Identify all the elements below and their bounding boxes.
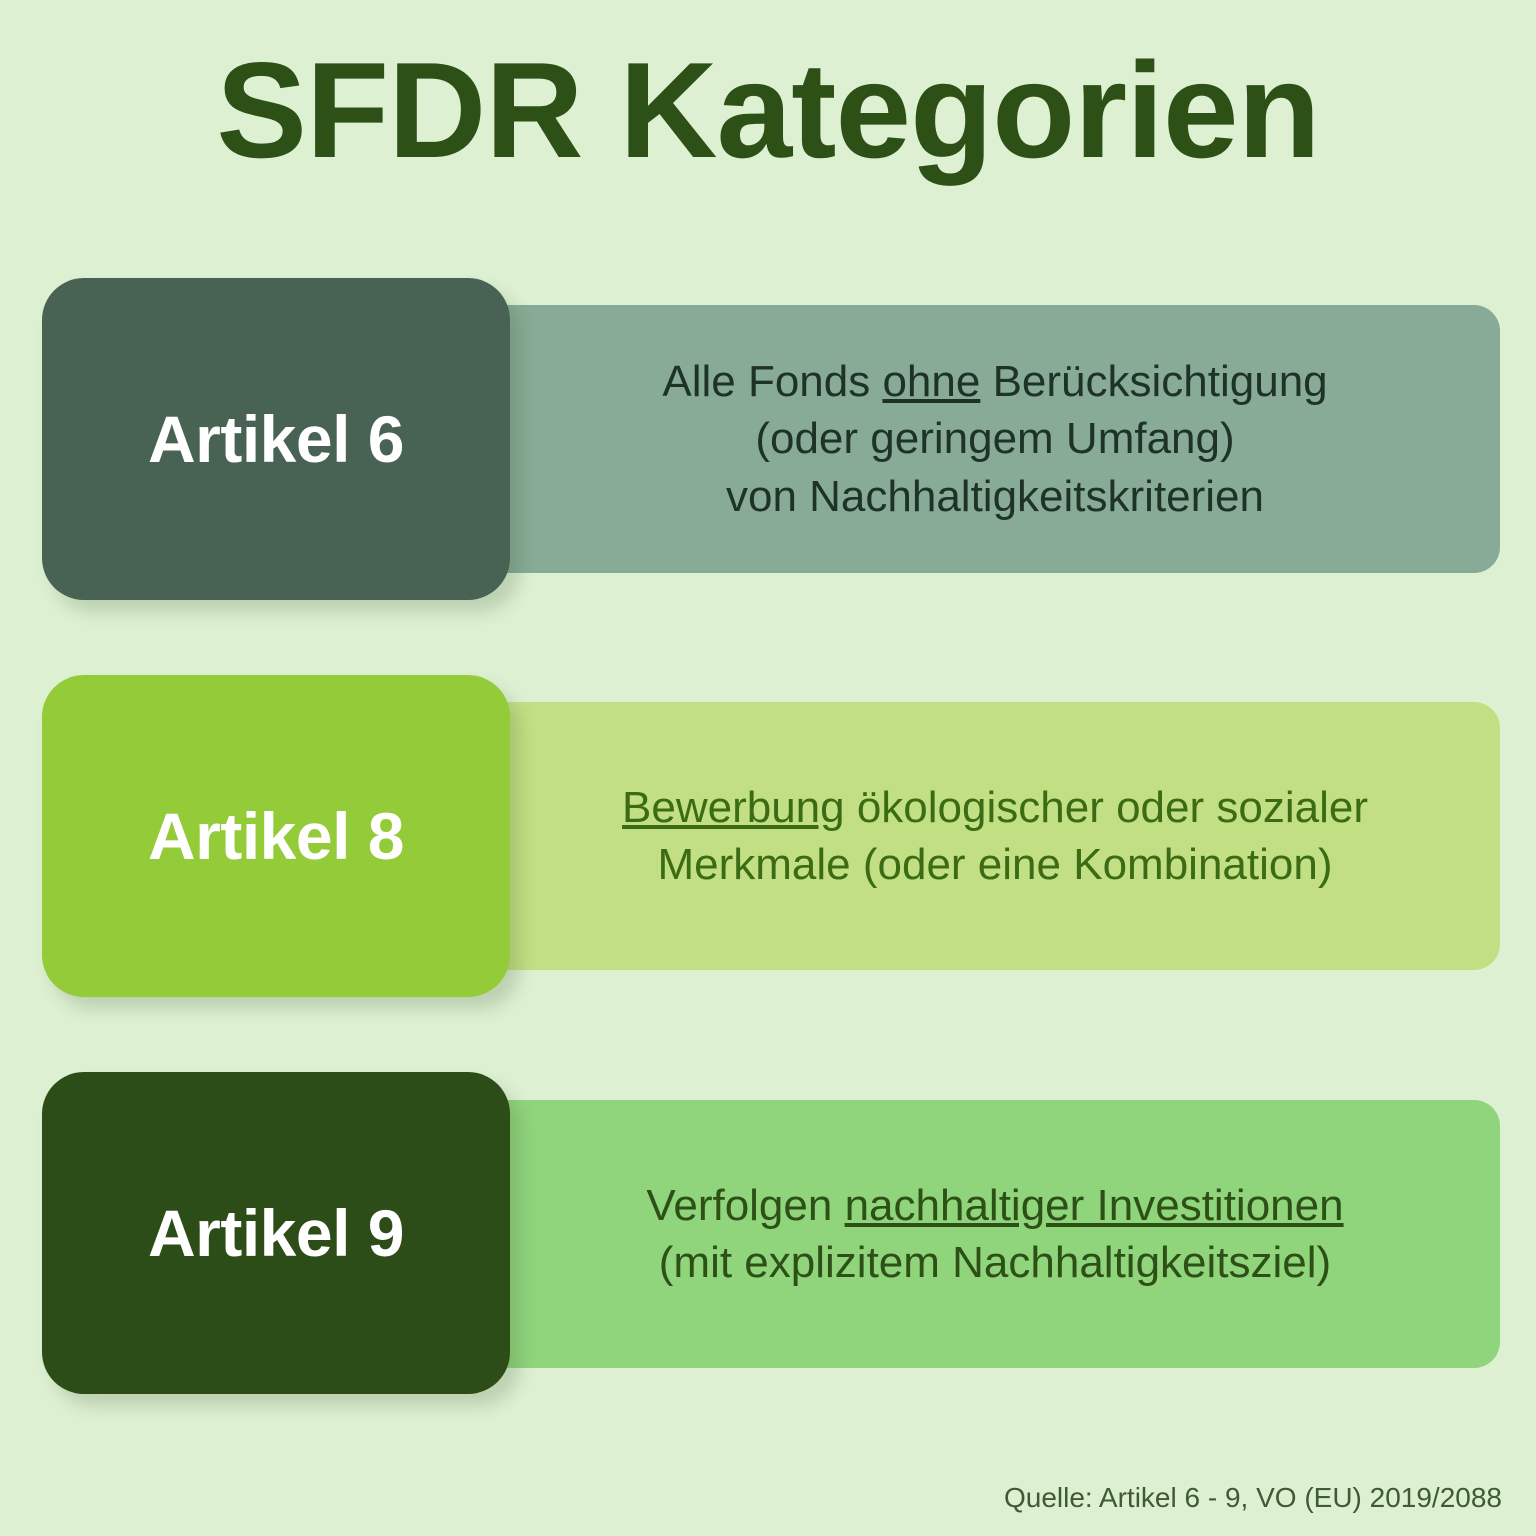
description-text-artikel-6: Alle Fonds ohne Berücksichtigung(oder ge… [662, 353, 1327, 525]
category-badge-artikel-9[interactable]: Artikel 9 [42, 1072, 510, 1394]
description-line: Verfolgen nachhaltiger Investitionen [646, 1177, 1343, 1234]
category-badge-label-artikel-8: Artikel 8 [148, 798, 404, 874]
category-badge-artikel-6[interactable]: Artikel 6 [42, 278, 510, 600]
description-line: Bewerbung ökologischer oder sozialer [622, 779, 1368, 836]
infographic-canvas: SFDR Kategorien Alle Fonds ohne Berücksi… [0, 0, 1536, 1536]
description-line: Alle Fonds ohne Berücksichtigung [662, 353, 1327, 410]
source-citation: Quelle: Artikel 6 - 9, VO (EU) 2019/2088 [1004, 1482, 1502, 1514]
description-bar-artikel-6: Alle Fonds ohne Berücksichtigung(oder ge… [400, 305, 1500, 573]
emphasis-underline: nachhaltiger Investitionen [845, 1181, 1344, 1230]
description-line: Merkmale (oder eine Kombination) [622, 836, 1368, 893]
description-text-artikel-9: Verfolgen nachhaltiger Investitionen(mit… [646, 1177, 1343, 1291]
emphasis-underline: ohne [882, 357, 980, 406]
description-bar-artikel-9: Verfolgen nachhaltiger Investitionen(mit… [400, 1100, 1500, 1368]
description-bar-artikel-8: Bewerbung ökologischer oder sozialerMerk… [400, 702, 1500, 970]
description-line: (mit explizitem Nachhaltigkeitsziel) [646, 1234, 1343, 1291]
category-badge-label-artikel-9: Artikel 9 [148, 1195, 404, 1271]
category-badge-label-artikel-6: Artikel 6 [148, 401, 404, 477]
emphasis-underline: Bewerbung [622, 783, 845, 832]
description-line: von Nachhaltigkeitskriterien [662, 468, 1327, 525]
category-badge-artikel-8[interactable]: Artikel 8 [42, 675, 510, 997]
page-title: SFDR Kategorien [0, 34, 1536, 186]
description-text-artikel-8: Bewerbung ökologischer oder sozialerMerk… [622, 779, 1368, 893]
description-line: (oder geringem Umfang) [662, 410, 1327, 467]
